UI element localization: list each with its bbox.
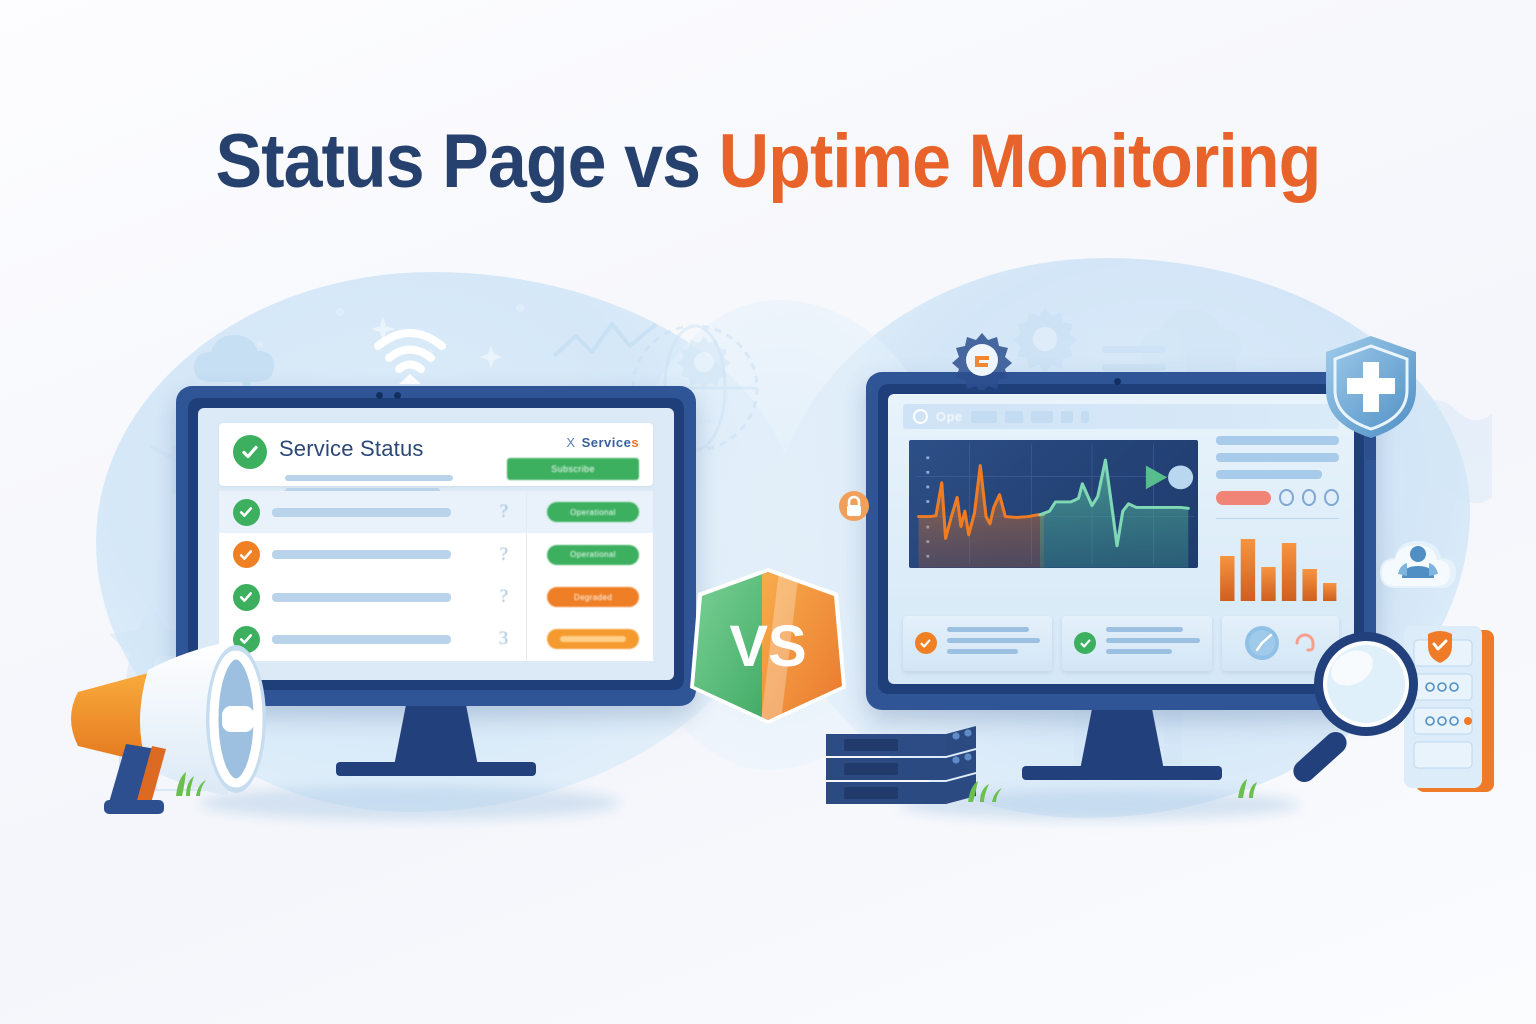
placeholder-bar bbox=[1106, 627, 1183, 632]
card-lines bbox=[1106, 627, 1199, 660]
toolbar-block bbox=[1081, 411, 1089, 423]
toolbar-block bbox=[1031, 411, 1053, 423]
row-label-placeholder bbox=[272, 550, 451, 559]
ring-icon bbox=[1324, 489, 1339, 506]
status-badge: Operational bbox=[547, 545, 639, 565]
status-row-2[interactable]: ? Operational bbox=[219, 533, 653, 575]
camera-dot bbox=[1114, 378, 1121, 385]
row-divider bbox=[526, 491, 527, 533]
uptime-chart bbox=[909, 440, 1198, 568]
megaphone-center bbox=[222, 706, 254, 732]
toolbar-block bbox=[1061, 411, 1073, 423]
right-monitor-foot bbox=[1022, 766, 1222, 780]
title-part-1: Status Page vs bbox=[216, 119, 719, 204]
placeholder-bar bbox=[1106, 638, 1199, 643]
check-circle-orange-icon bbox=[233, 541, 260, 568]
play-triangle-marker bbox=[1146, 466, 1167, 490]
service-status-title: Service Status bbox=[279, 436, 424, 462]
server-unit-1 bbox=[826, 726, 976, 756]
title-part-2: Uptime Monitoring bbox=[719, 119, 1321, 204]
gear-icon bbox=[952, 330, 1012, 390]
card-lines bbox=[947, 627, 1040, 660]
brand-text: Service bbox=[582, 435, 632, 450]
page-title: Status Page vs Uptime Monitoring bbox=[61, 118, 1474, 205]
gear-decoration-icon bbox=[672, 330, 736, 394]
placeholder-bar bbox=[285, 475, 453, 481]
service-status-brand-area: XServices Subscribe bbox=[507, 435, 639, 480]
dashboard-toolbar[interactable]: Ope bbox=[903, 404, 1339, 429]
ring-icon bbox=[1302, 489, 1317, 506]
row-meta: 3 bbox=[451, 628, 526, 650]
toolbar-block bbox=[1005, 411, 1023, 423]
circle-outline-icon bbox=[913, 409, 928, 424]
grass-decoration-icon-2 bbox=[962, 776, 1012, 802]
left-monitor-foot bbox=[336, 762, 536, 776]
ring-icon bbox=[1279, 489, 1294, 506]
vs-badge-label: VS bbox=[729, 614, 806, 679]
shield-cross-icon bbox=[1316, 330, 1426, 460]
vs-badge: VS bbox=[684, 562, 852, 730]
placeholder-bar bbox=[947, 649, 1018, 654]
check-circle-green-icon bbox=[233, 435, 267, 469]
status-badge bbox=[547, 629, 639, 649]
user-cloud-icon bbox=[1372, 524, 1464, 604]
check-circle-green-icon bbox=[233, 584, 260, 611]
row-label-placeholder bbox=[272, 508, 451, 517]
status-card-ok[interactable] bbox=[1062, 616, 1211, 671]
toolbar-label: Ope bbox=[936, 409, 963, 424]
lock-icon bbox=[838, 490, 870, 532]
brand-suffix: s bbox=[631, 435, 639, 450]
placeholder-bar bbox=[947, 627, 1029, 632]
sidebar-bar-chart bbox=[1216, 529, 1339, 601]
row-divider bbox=[526, 576, 527, 618]
placeholder-bar bbox=[1106, 649, 1171, 654]
toolbar-block bbox=[971, 411, 997, 423]
uptime-chart-svg bbox=[909, 440, 1198, 568]
gauge-icon bbox=[1242, 623, 1282, 663]
row-meta: ? bbox=[451, 544, 526, 566]
camera-dot-right bbox=[394, 392, 401, 399]
accent-bar bbox=[1216, 491, 1272, 505]
row-label-placeholder bbox=[272, 593, 451, 602]
check-circle-green-icon bbox=[233, 499, 260, 526]
status-badge: Operational bbox=[547, 502, 639, 522]
row-meta: ? bbox=[451, 586, 526, 608]
status-card-warning[interactable] bbox=[903, 616, 1052, 671]
dashboard-status-cards bbox=[903, 616, 1339, 671]
placeholder-bar bbox=[1216, 470, 1322, 479]
badge-inner-bar bbox=[560, 636, 626, 642]
status-row-1[interactable]: ? Operational bbox=[219, 491, 653, 533]
user-head bbox=[1410, 546, 1426, 562]
magnifier-icon bbox=[1289, 632, 1418, 787]
placeholder-bar bbox=[947, 638, 1040, 643]
sidebar-divider bbox=[1216, 518, 1339, 519]
left-monitor-neck bbox=[394, 706, 478, 766]
magnifier-cluster bbox=[1278, 596, 1508, 826]
check-circle-orange-icon bbox=[915, 632, 937, 654]
right-monitor-neck bbox=[1080, 710, 1164, 770]
server-stack-icon bbox=[816, 722, 986, 810]
row-divider bbox=[526, 533, 527, 575]
status-row-3[interactable]: ? Degraded bbox=[219, 576, 653, 618]
check-circle-green-icon bbox=[1074, 632, 1096, 654]
illustration-canvas: Status Page vs Uptime Monitoring bbox=[0, 0, 1536, 1024]
subscribe-button[interactable]: Subscribe bbox=[507, 458, 639, 480]
brand-prefix: X bbox=[566, 435, 575, 450]
grass-decoration-icon bbox=[170, 768, 216, 796]
row-meta: ? bbox=[451, 501, 526, 523]
grass-decoration-icon-3 bbox=[1232, 774, 1274, 798]
circle-marker bbox=[1168, 466, 1193, 490]
gear-decoration-icon-2 bbox=[1006, 300, 1084, 378]
wifi-icon bbox=[372, 326, 448, 393]
row-divider bbox=[526, 618, 527, 660]
accent-row bbox=[1216, 489, 1339, 506]
camera-dot-left bbox=[376, 392, 383, 399]
brand-label: XServices bbox=[507, 435, 639, 450]
service-status-header: Service Status XServices Subscribe bbox=[219, 423, 653, 486]
status-badge: Degraded bbox=[547, 587, 639, 607]
